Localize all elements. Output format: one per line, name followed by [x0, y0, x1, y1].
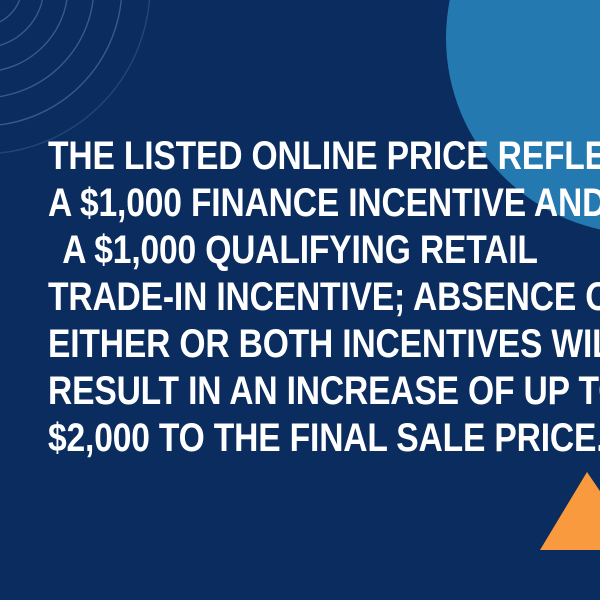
- disclaimer-text-block: THE LISTED ONLINE PRICE REFLECTS A $1,00…: [0, 0, 600, 600]
- disclaimer-banner: THE LISTED ONLINE PRICE REFLECTS A $1,00…: [0, 0, 600, 600]
- disclaimer-line-1: THE LISTED ONLINE PRICE REFLECTS: [48, 133, 552, 180]
- disclaimer-line-5: EITHER OR BOTH INCENTIVES WILL: [48, 321, 552, 368]
- disclaimer-lines: THE LISTED ONLINE PRICE REFLECTS A $1,00…: [48, 133, 552, 462]
- disclaimer-line-6: RESULT IN AN INCREASE OF UP TO: [48, 368, 552, 415]
- disclaimer-line-7: $2,000 TO THE FINAL SALE PRICE.: [48, 415, 552, 462]
- disclaimer-line-2: A $1,000 FINANCE INCENTIVE AND: [48, 180, 552, 227]
- disclaimer-line-3: A $1,000 QUALIFYING RETAIL: [48, 227, 552, 274]
- disclaimer-line-4: TRADE-IN INCENTIVE; ABSENCE OF: [48, 274, 552, 321]
